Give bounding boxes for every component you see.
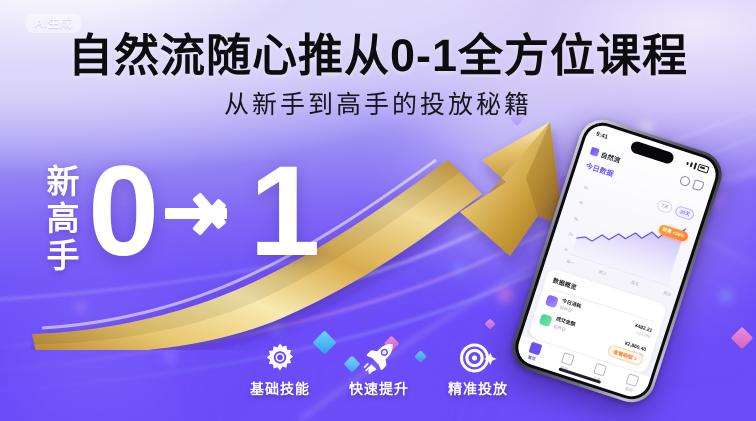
app-actions — [679, 175, 705, 192]
x-tick: 周一 — [565, 259, 575, 269]
feature-basic-skills[interactable]: 基础技能 — [238, 341, 322, 396]
x-tick: 周五 — [630, 280, 640, 290]
app-title: 自然流 — [600, 149, 622, 165]
status-icons — [686, 160, 710, 174]
bokeh-orb-blue-4 — [268, 320, 283, 335]
zero-to-one-headline: 0 1 — [88, 148, 320, 276]
phone-frame: 9:41 自然流 — [506, 114, 728, 409]
page-subtitle: 从新手到高手的投放秘籍 — [0, 93, 756, 118]
search-icon[interactable] — [679, 175, 692, 188]
tab-home[interactable]: 首页 — [518, 339, 550, 365]
tab-profile[interactable]: 我的 — [615, 370, 647, 396]
signal-icon — [686, 162, 689, 165]
vertical-char-2: 高 — [40, 200, 86, 237]
feature-label: 快速提升 — [349, 382, 409, 396]
vertical-badge-label: 新 高 手 — [40, 163, 86, 274]
target-icon — [459, 341, 497, 375]
y-tick: 5k — [576, 182, 589, 190]
x-tick: 周三 — [597, 269, 607, 279]
feature-precise-delivery[interactable]: 精准投放 — [436, 341, 520, 396]
big-number-from: 0 — [88, 148, 159, 276]
phone-bezel: 9:41 自然流 — [510, 117, 724, 404]
feature-row: 基础技能 快速提升 — [238, 341, 520, 396]
status-time: 9:41 — [595, 131, 608, 140]
bokeh-orb-pink-1 — [494, 284, 516, 306]
diamond-particle-pink-3 — [484, 318, 495, 329]
battery-icon — [697, 164, 710, 174]
right-arrow-icon — [165, 184, 243, 240]
tab-label: 首页 — [527, 354, 536, 362]
bokeh-orb-blue-3 — [718, 288, 734, 304]
big-number-to: 1 — [249, 148, 320, 276]
app-logo-icon — [590, 147, 600, 157]
promo-poster: AI生成 自然流随心推从0-1全方位课程 从新手到高手的投放秘籍 新 高 手 0… — [0, 0, 756, 421]
message-icon[interactable] — [692, 179, 705, 192]
app-logo: 自然流 — [589, 146, 622, 165]
bokeh-orb-blue-1 — [452, 262, 465, 275]
y-tick: 4k — [571, 197, 584, 205]
wallet-icon — [545, 294, 559, 308]
feature-fast-growth[interactable]: 快速提升 — [337, 341, 421, 396]
leaf-icon — [539, 313, 553, 327]
page-title: 自然流随心推从0-1全方位课程 — [0, 33, 756, 78]
tab-label: 我的 — [624, 385, 633, 393]
y-tick: 3k — [566, 213, 579, 221]
bokeh-orb-violet-2 — [160, 346, 180, 366]
signal-icon — [690, 162, 693, 167]
diamond-particle-pink-2 — [731, 327, 754, 350]
diamond-particle-cyan-4 — [270, 300, 281, 311]
bokeh-orb-pink-3 — [74, 300, 88, 314]
vertical-char-1: 新 — [40, 163, 86, 200]
feature-label: 精准投放 — [448, 382, 508, 396]
phone-mockup: 9:41 自然流 — [506, 114, 728, 409]
vertical-char-3: 手 — [40, 237, 86, 274]
list-item-values: ¥482.21 +12.6% — [632, 323, 653, 339]
gear-icon — [264, 341, 296, 375]
y-tick: 2k — [561, 228, 574, 236]
phone-screen: 9:41 自然流 — [514, 121, 721, 401]
y-tick: 1k — [556, 244, 569, 252]
x-tick: 周日 — [662, 290, 672, 300]
rocket-icon — [362, 341, 396, 375]
feature-label: 基础技能 — [250, 382, 310, 396]
